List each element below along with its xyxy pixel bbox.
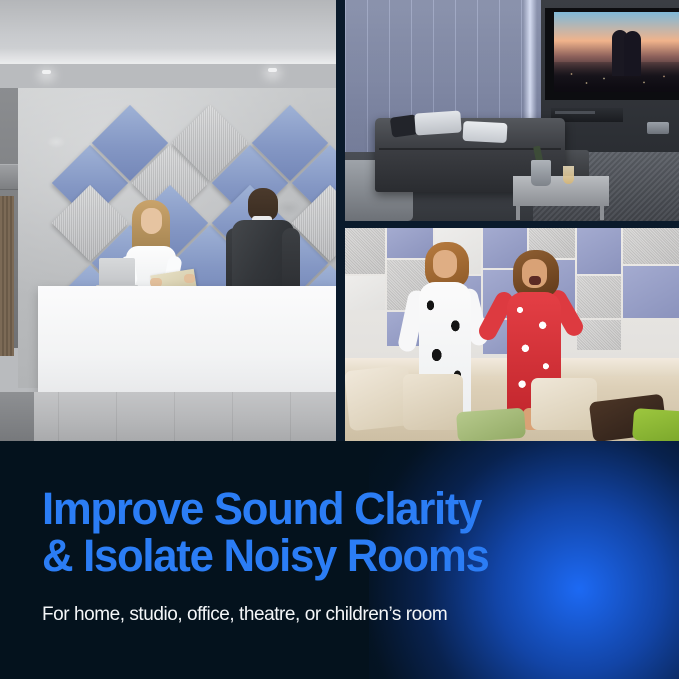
- headline-line-2: & Isolate Noisy Rooms: [42, 532, 660, 579]
- photo-home-theatre: [345, 0, 679, 221]
- child-mouth: [529, 276, 541, 285]
- acoustic-tile: [345, 228, 385, 274]
- receptionist-hand: [184, 274, 195, 283]
- product-feature-card: Improve Sound Clarity & Isolate Noisy Ro…: [0, 0, 679, 679]
- reception-desk: [38, 286, 336, 402]
- banner-content: Improve Sound Clarity & Isolate Noisy Ro…: [0, 441, 679, 626]
- acoustic-tile: [577, 228, 621, 274]
- ceiling-light-icon: [42, 70, 51, 74]
- laptop-screen: [99, 258, 135, 286]
- sofa-cushion: [531, 378, 597, 430]
- acoustic-tile: [577, 320, 621, 350]
- photo-children-room: [345, 228, 679, 441]
- acoustic-tile: [623, 228, 679, 264]
- projector-screen: [554, 12, 679, 92]
- coffee-table: [513, 176, 609, 206]
- sofa-cushion: [403, 374, 463, 430]
- wine-glass-icon: [563, 166, 574, 184]
- cushion-light: [463, 121, 508, 143]
- speaker-icon: [647, 122, 669, 134]
- acoustic-tile: [623, 266, 679, 318]
- ice-bucket-icon: [531, 160, 551, 186]
- green-cushion: [632, 408, 679, 441]
- green-blanket: [456, 408, 526, 441]
- wall-shelf: [0, 164, 20, 190]
- wood-slat-wall: [0, 196, 14, 356]
- floor-tiles: [0, 392, 336, 441]
- photo-office-reception: [0, 0, 336, 441]
- ceiling: [0, 0, 336, 64]
- couple-silhouette: [624, 31, 641, 76]
- subheadline: For home, studio, office, theatre, or ch…: [42, 604, 679, 626]
- cushion-light: [414, 110, 461, 135]
- receptionist-face: [141, 208, 162, 234]
- child-face: [433, 250, 457, 278]
- acoustic-tile: [345, 276, 385, 310]
- photo-collage: [0, 0, 679, 441]
- marketing-banner: Improve Sound Clarity & Isolate Noisy Ro…: [0, 441, 679, 679]
- ceiling-light-icon: [268, 68, 277, 72]
- headline-line-1: Improve Sound Clarity: [42, 485, 660, 532]
- acoustic-tile: [577, 276, 621, 318]
